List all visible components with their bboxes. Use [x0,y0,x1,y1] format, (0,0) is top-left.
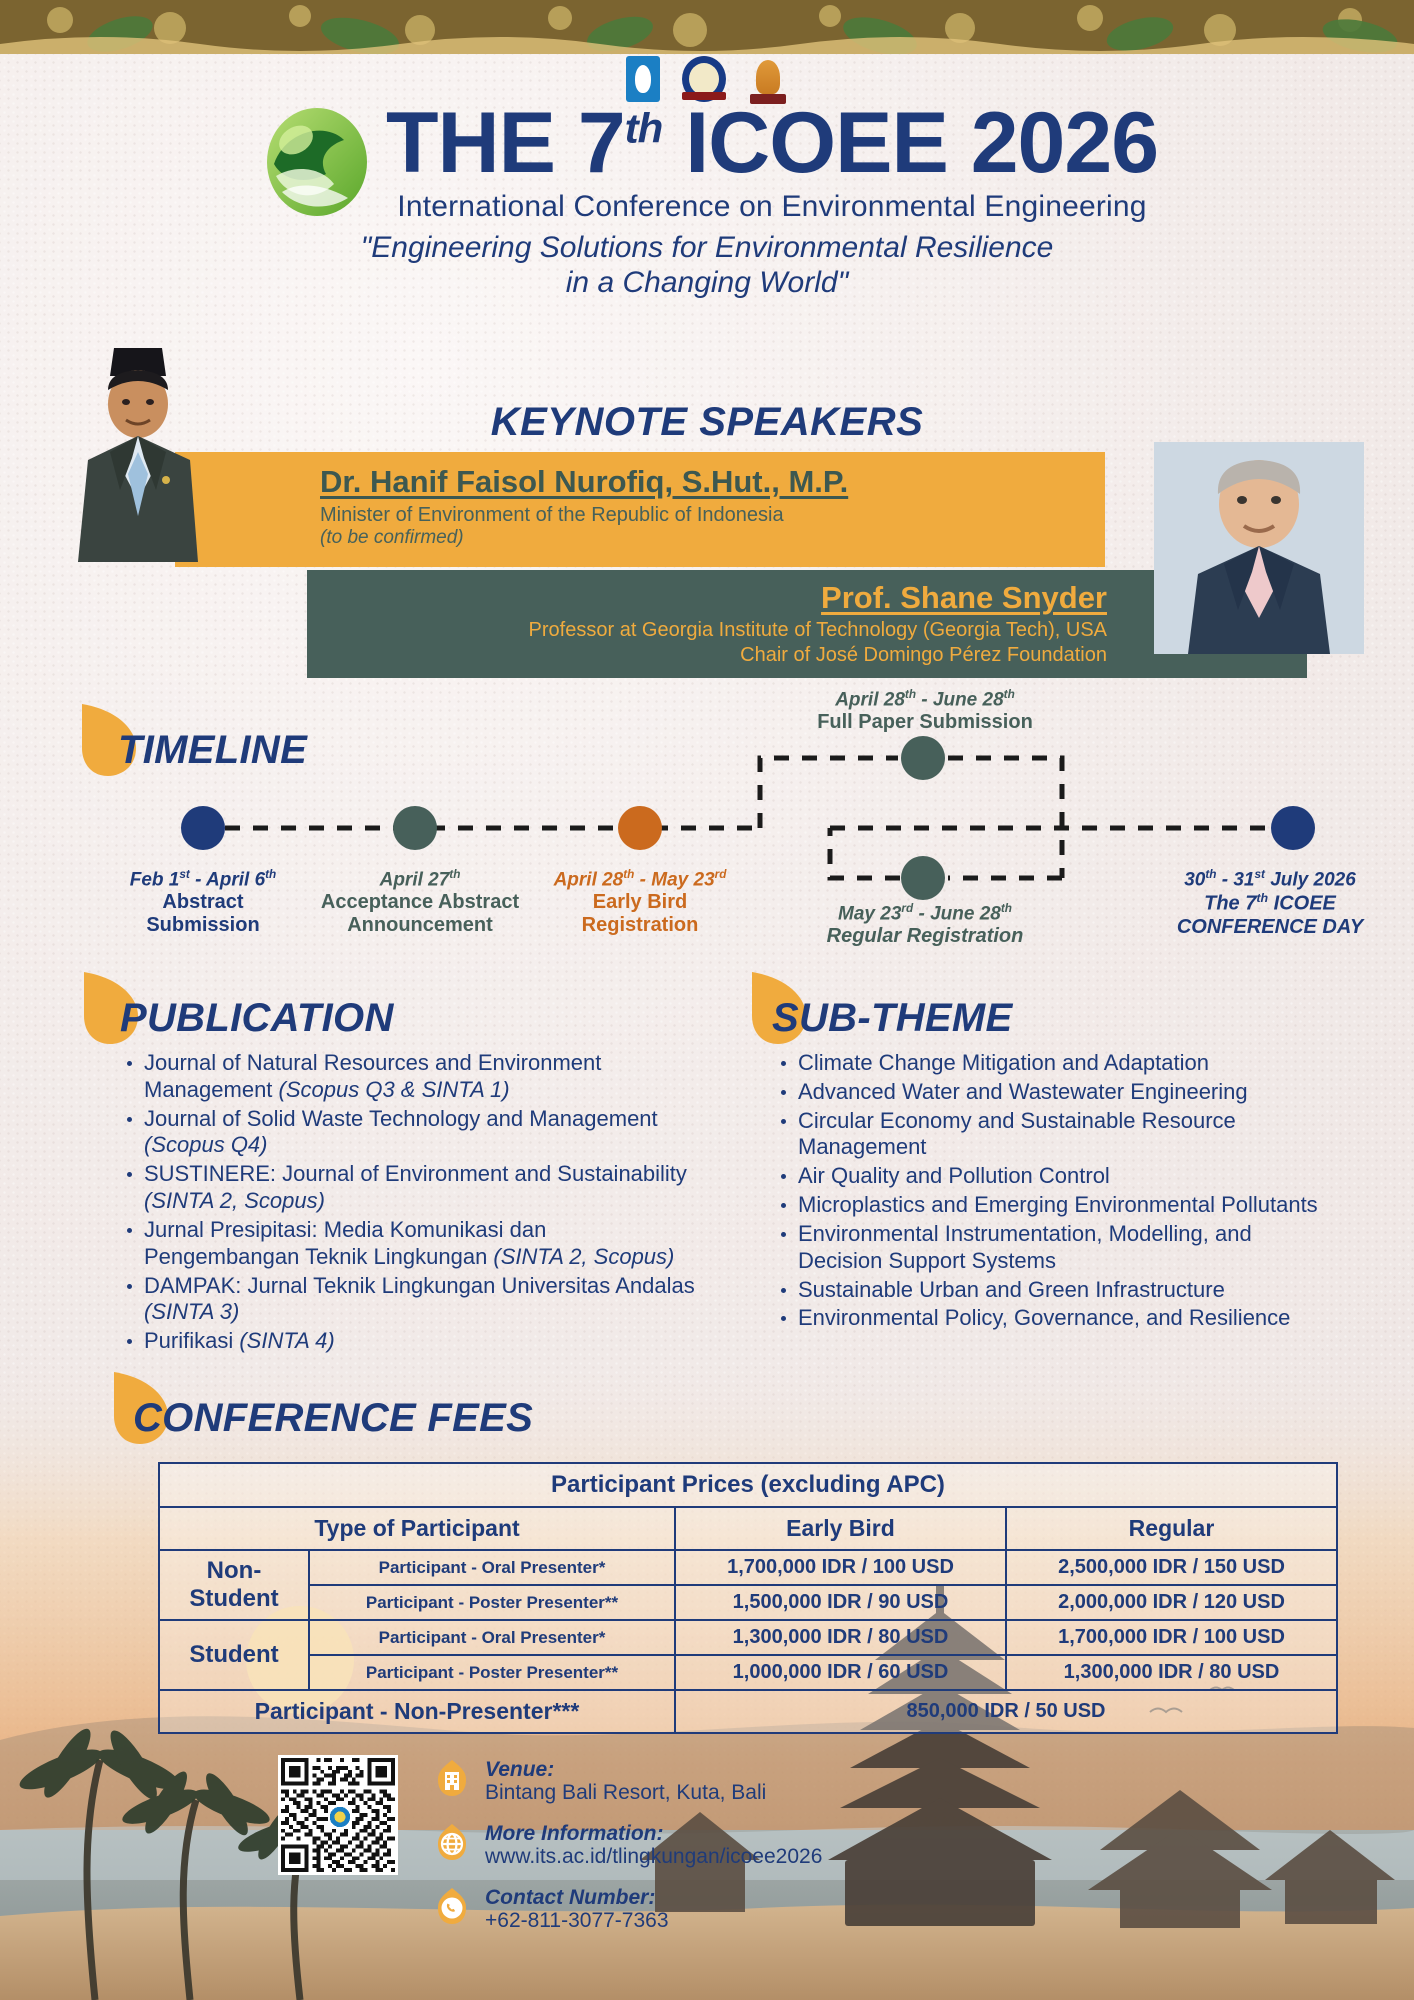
fees-group-nonstudent-l1: Non- [166,1557,302,1585]
tl2-o1: th [449,868,460,881]
fees-row-1-early: 1,500,000 IDR / 90 USD [675,1585,1006,1620]
fees-nonpresenter-value: 850,000 IDR / 50 USD [675,1690,1337,1733]
speaker-name-hanif: Dr. Hanif Faisol Nurofiq, S.Hut., M.P. [320,464,1105,500]
publication-heading: PUBLICATION [120,996,394,1041]
contact-phone[interactable]: Contact Number: +62-811-3077-7363 [432,1886,669,1933]
table-row: Participant - Poster Presenter** 1,000,0… [159,1655,1337,1690]
timeline-node-2-event1: Acceptance Abstract [285,891,555,914]
fees-row-3-regular: 1,300,000 IDR / 80 USD [1006,1655,1337,1690]
fees-nonpresenter-label: Participant - Non-Presenter*** [159,1690,675,1733]
speaker-photo-snyder [1154,442,1364,654]
tl5-o1: rd [901,902,913,915]
timeline-node-2: April 27th Acceptance Abstract Announcem… [285,868,555,937]
pub-5-main: Purifikasi [144,1328,239,1353]
timeline-node-4-event1: Full Paper Submission [775,711,1075,734]
speaker-role-snyder: Professor at Georgia Institute of Techno… [307,618,1107,668]
sub-2: Circular Economy and Sustainable Resourc… [798,1108,1236,1160]
list-item: Microplastics and Emerging Environmental… [772,1192,1332,1219]
fees-row-3-type: Participant - Poster Presenter** [309,1655,675,1690]
phone-label: Contact Number: [485,1886,669,1909]
speaker-role-snyder-line2: Chair of José Domingo Pérez Foundation [307,643,1107,668]
table-row: Type of Participant Early Bird Regular [159,1507,1337,1550]
contact-venue: Venue: Bintang Bali Resort, Kuta, Bali [432,1758,766,1805]
fees-row-3-early: 1,000,000 IDR / 60 USD [675,1655,1006,1690]
venue-label: Venue: [485,1758,766,1781]
poster-header: THE 7th ICOEE 2026 International Confere… [0,100,1414,301]
subtheme-list: Climate Change Mitigation and Adaptation… [772,1050,1332,1334]
tl6-e1b: ICOEE [1268,893,1336,915]
pub-1-em: (Scopus Q4) [144,1132,268,1157]
tl1-d1: Feb 1 [130,869,180,890]
tl6-d2: - 31 [1216,869,1254,890]
subtheme-heading: SUB-THEME [772,996,1012,1041]
tl3-d2: - May 23 [634,869,714,890]
publication-list: Journal of Natural Resources and Environ… [118,1050,698,1357]
tl6-o2: st [1254,868,1264,881]
tl5-o2: th [1001,902,1012,915]
whatsapp-icon [432,1886,472,1926]
qr-code-icon[interactable] [278,1755,398,1875]
list-item: Advanced Water and Wastewater Engineerin… [772,1079,1332,1106]
table-row: Participant Prices (excluding APC) [159,1463,1337,1507]
timeline-node-5-event1: Regular Registration [775,925,1075,948]
list-item: Jurnal Presipitasi: Media Komunikasi dan… [118,1217,698,1271]
timeline-node-3-event1: Early Bird [520,891,760,914]
venue-value: Bintang Bali Resort, Kuta, Bali [485,1781,766,1805]
pub-0-em: (Scopus Q3 & SINTA 1) [279,1077,510,1102]
timeline-node-2-date: April 27th [285,868,555,891]
list-item: Climate Change Mitigation and Adaptation [772,1050,1332,1077]
page-title: THE 7th ICOEE 2026 [386,100,1158,186]
sub-4: Microplastics and Emerging Environmental… [798,1192,1318,1217]
sub-1: Advanced Water and Wastewater Engineerin… [798,1079,1248,1104]
speaker-name-snyder: Prof. Shane Snyder [307,580,1107,616]
speaker-role-hanif: Minister of Environment of the Republic … [320,504,1105,527]
tl1-d2: - April 6 [190,869,265,890]
pub-2-em: (SINTA 2, Scopus) [144,1188,325,1213]
timeline-node-6-event2: CONFERENCE DAY [1140,916,1400,939]
its-logo-icon [626,56,660,102]
list-item: Purifikasi (SINTA 4) [118,1328,698,1355]
tl6-d1: 30 [1184,869,1205,890]
tl6-d3: July 2026 [1265,869,1356,890]
pub-1-main: Journal of Solid Waste Technology and Ma… [144,1106,658,1131]
table-row: Participant - Poster Presenter** 1,500,0… [159,1585,1337,1620]
fees-group-student: Student [159,1620,309,1690]
tl3-o1: th [623,868,634,881]
fees-row-0-type: Participant - Oral Presenter* [309,1550,675,1585]
table-row: Student Participant - Oral Presenter* 1,… [159,1620,1337,1655]
list-item: SUSTINERE: Journal of Environment and Su… [118,1161,698,1215]
speaker-photo-hanif [58,340,218,562]
pub-3-main: Jurnal Presipitasi: Media Komunikasi dan… [144,1217,546,1269]
list-item: Journal of Solid Waste Technology and Ma… [118,1106,698,1160]
fees-table-title: Participant Prices (excluding APC) [159,1463,1337,1507]
list-item: Circular Economy and Sustainable Resourc… [772,1108,1332,1162]
timeline-node-2-event2: Announcement [285,914,555,937]
tl4-d2: - June 28 [916,689,1004,710]
pub-4-em: (SINTA 3) [144,1299,239,1324]
theme-line-1: "Engineering Solutions for Environmental… [0,230,1414,265]
fees-row-2-early: 1,300,000 IDR / 80 USD [675,1620,1006,1655]
keynote-heading: KEYNOTE SPEAKERS [0,400,1414,445]
conference-subtitle: International Conference on Environmenta… [386,190,1158,224]
contact-website[interactable]: More Information: www.its.ac.id/tlingkun… [432,1822,822,1869]
timeline-node-6-event1: The 7th ICOEE [1140,891,1400,916]
website-label: More Information: [485,1822,822,1845]
tl4-o1: th [905,688,916,701]
timeline-node-5-date: May 23rd - June 28th [775,902,1075,925]
fees-row-0-early: 1,700,000 IDR / 100 USD [675,1550,1006,1585]
list-item: DAMPAK: Jurnal Teknik Lingkungan Univers… [118,1273,698,1327]
pub-5-em: (SINTA 4) [239,1328,334,1353]
timeline-node-3-date: April 28th - May 23rd [520,868,760,891]
title-pre: THE 7 [386,95,625,191]
speaker-role-snyder-line1: Professor at Georgia Institute of Techno… [307,618,1107,643]
sub-6: Sustainable Urban and Green Infrastructu… [798,1277,1225,1302]
tl2-d1: April 27 [380,869,450,890]
timeline-node-6: 30th - 31st July 2026 The 7th ICOEE CONF… [1140,868,1400,939]
website-value[interactable]: www.its.ac.id/tlingkungan/icoee2026 [485,1845,822,1869]
timeline-node-3-event2: Registration [520,914,760,937]
pub-3-em: (SINTA 2, Scopus) [493,1244,674,1269]
list-item: Environmental Policy, Governance, and Re… [772,1305,1332,1332]
title-ordinal: th [625,104,663,151]
timeline-node-4-date: April 28th - June 28th [775,688,1075,711]
icoee-logo-icon [256,106,378,218]
timeline-node-5: May 23rd - June 28th Regular Registratio… [775,902,1075,948]
fees-row-1-regular: 2,000,000 IDR / 120 USD [1006,1585,1337,1620]
table-row: Participant - Non-Presenter*** 850,000 I… [159,1690,1337,1733]
list-item: Environmental Instrumentation, Modelling… [772,1221,1332,1275]
fees-row-0-regular: 2,500,000 IDR / 150 USD [1006,1550,1337,1585]
sub-7: Environmental Policy, Governance, and Re… [798,1305,1290,1330]
fees-row-2-regular: 1,700,000 IDR / 100 USD [1006,1620,1337,1655]
tl4-d1: April 28 [835,689,905,710]
fees-row-2-type: Participant - Oral Presenter* [309,1620,675,1655]
phone-value[interactable]: +62-811-3077-7363 [485,1909,669,1933]
fees-row-1-type: Participant - Poster Presenter** [309,1585,675,1620]
tl6-o1: th [1205,868,1216,881]
title-post: ICOEE 2026 [662,95,1158,191]
speaker-card-hanif: Dr. Hanif Faisol Nurofiq, S.Hut., M.P. M… [175,452,1105,567]
list-item: Sustainable Urban and Green Infrastructu… [772,1277,1332,1304]
tl3-d1: April 28 [554,869,624,890]
tl1-o2: th [265,868,276,881]
sub-3: Air Quality and Pollution Control [798,1163,1110,1188]
timeline-node-6-date: 30th - 31st July 2026 [1140,868,1400,891]
tl5-d1: May 23 [838,903,901,924]
fees-heading: CONFERENCE FEES [133,1396,533,1441]
fees-col-regular: Regular [1006,1507,1337,1550]
fees-col-type: Type of Participant [159,1507,675,1550]
tl6-eo: th [1256,891,1268,905]
tl3-o2: rd [715,868,727,881]
list-item: Air Quality and Pollution Control [772,1163,1332,1190]
timeline-diagram: Feb 1st - April 6th Abstract Submission … [0,700,1414,960]
speaker-note-hanif: (to be confirmed) [320,527,1105,549]
globe-icon [432,1822,472,1862]
batik-border-decoration [0,0,1414,54]
theme-line-2: in a Changing World" [0,265,1414,300]
pub-2-main: SUSTINERE: Journal of Environment and Su… [144,1161,687,1186]
timeline-node-4: April 28th - June 28th Full Paper Submis… [775,688,1075,734]
table-row: Non- Student Participant - Oral Presente… [159,1550,1337,1585]
tl6-e1: The 7 [1204,893,1256,915]
fees-group-nonstudent: Non- Student [159,1550,309,1620]
pub-4-main: DAMPAK: Jurnal Teknik Lingkungan Univers… [144,1273,695,1298]
sub-0: Climate Change Mitigation and Adaptation [798,1050,1209,1075]
fees-col-early: Early Bird [675,1507,1006,1550]
tl1-o1: st [179,868,189,881]
tl5-d2: - June 28 [913,903,1001,924]
sub-5: Environmental Instrumentation, Modelling… [798,1221,1252,1273]
fees-group-nonstudent-l2: Student [166,1585,302,1613]
conference-theme: "Engineering Solutions for Environmental… [0,230,1414,301]
list-item: Journal of Natural Resources and Environ… [118,1050,698,1104]
timeline-node-3: April 28th - May 23rd Early Bird Registr… [520,868,760,937]
conference-fees-table: Participant Prices (excluding APC) Type … [158,1462,1338,1734]
tl4-o2: th [1004,688,1015,701]
building-icon [432,1758,472,1798]
